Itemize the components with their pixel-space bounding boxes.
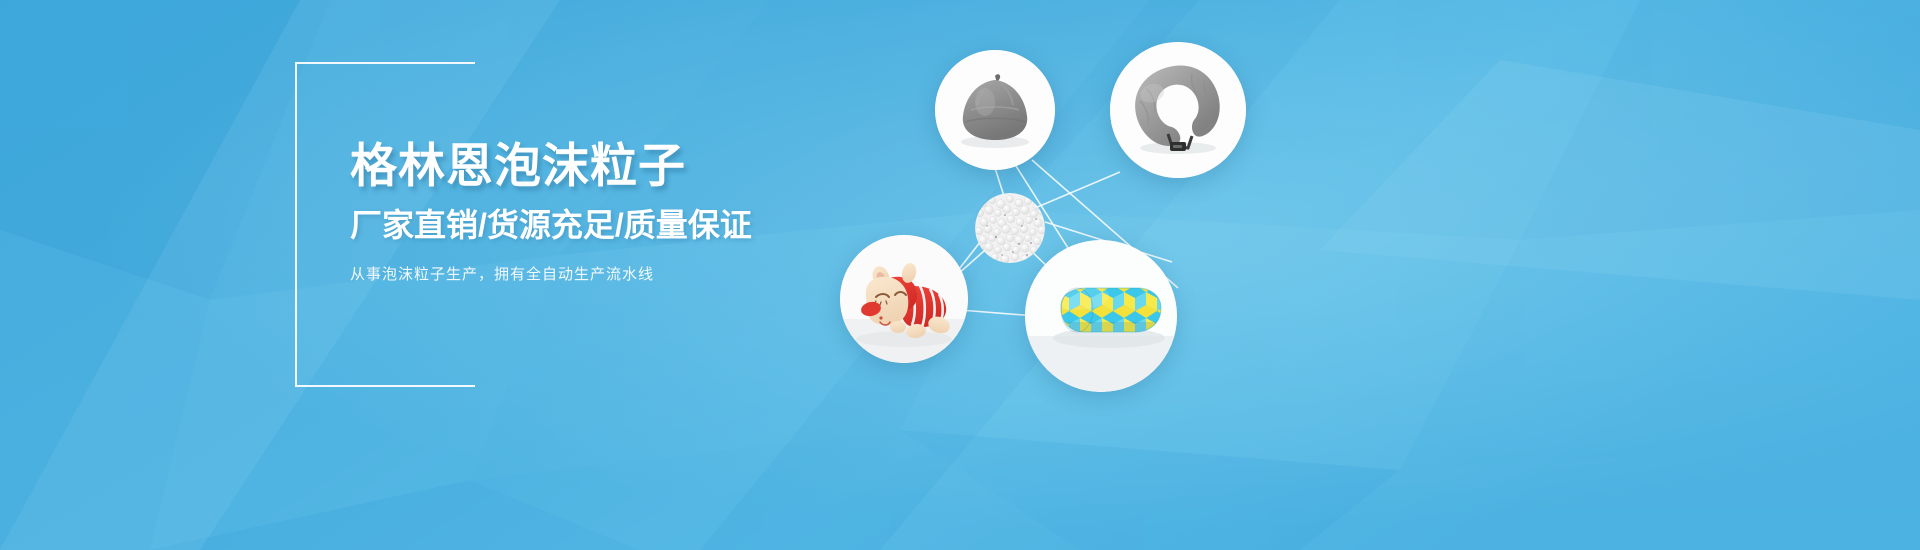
subtitle-selling-points: 厂家直销/货源充足/质量保证 (350, 207, 770, 244)
plush-toy-pillow-photo (840, 235, 968, 363)
product-node-u-neck-pillow[interactable] (1110, 42, 1246, 178)
bean-bag-chair-photo (935, 50, 1055, 170)
product-node-plush-toy-pillow[interactable] (840, 235, 968, 363)
u-neck-pillow-photo (1110, 42, 1246, 178)
headline-text-block: 格林恩泡沫粒子 厂家直销/货源充足/质量保证 从事泡沫粒子生产，拥有全自动生产流… (295, 62, 755, 387)
headline-group: 格林恩泡沫粒子 厂家直销/货源充足/质量保证 从事泡沫粒子生产，拥有全自动生产流… (350, 140, 770, 284)
bolster-cushion-photo (1025, 240, 1177, 392)
page-title: 格林恩泡沫粒子 (350, 140, 770, 193)
product-network-diagram (820, 0, 1920, 550)
product-node-bean-bag-chair[interactable] (935, 50, 1055, 170)
promo-banner: 格林恩泡沫粒子 厂家直销/货源充足/质量保证 从事泡沫粒子生产，拥有全自动生产流… (0, 0, 1920, 550)
foam-particles-photo (975, 193, 1045, 263)
product-node-foam-particles[interactable] (975, 193, 1045, 263)
product-node-bolster-cushion[interactable] (1025, 240, 1177, 392)
tagline-description: 从事泡沫粒子生产，拥有全自动生产流水线 (350, 263, 770, 284)
